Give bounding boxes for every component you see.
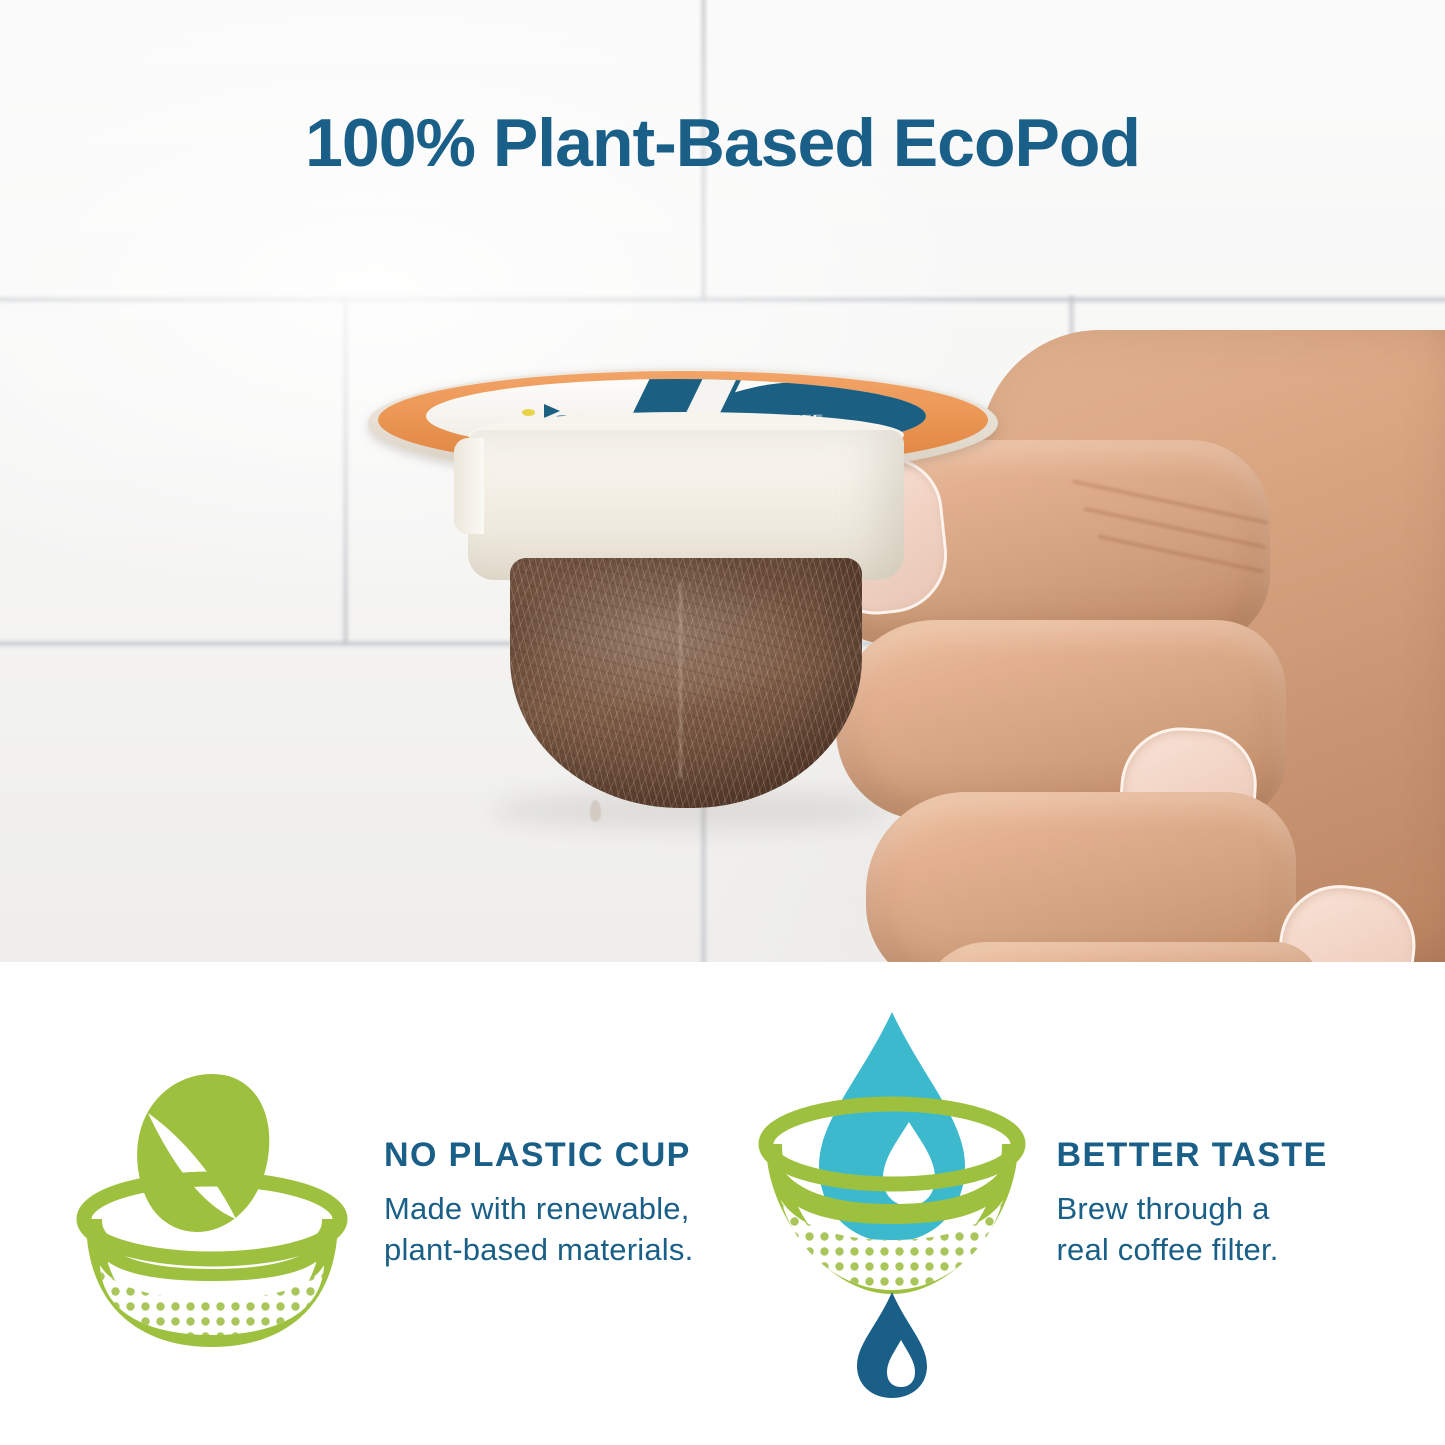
feature-description: Brew through a real coffee filter. bbox=[1057, 1189, 1445, 1271]
feature-title: NO PLASTIC CUP bbox=[384, 1136, 723, 1175]
feature-panel: NO PLASTIC CUP Made with renewable, plan… bbox=[0, 962, 1445, 1445]
feature-no-plastic-cup: NO PLASTIC CUP Made with renewable, plan… bbox=[0, 962, 723, 1445]
product-feature-graphic: CAMERON'S COFFEE 100% Plant-Based EcoPod bbox=[0, 0, 1445, 1445]
page-title: 100% Plant-Based EcoPod bbox=[0, 104, 1445, 182]
feature-description: Made with renewable, plant-based materia… bbox=[384, 1189, 723, 1271]
feature-text-block: NO PLASTIC CUP Made with renewable, plan… bbox=[384, 1136, 723, 1271]
feature-better-taste: BETTER TASTE Brew through a real coffee … bbox=[723, 962, 1445, 1445]
feature-text-block: BETTER TASTE Brew through a real coffee … bbox=[1057, 1136, 1445, 1271]
water-drop-through-filter-icon bbox=[757, 1004, 1027, 1404]
feature-title: BETTER TASTE bbox=[1057, 1136, 1445, 1175]
leaf-in-filter-basket-icon bbox=[78, 1059, 346, 1349]
